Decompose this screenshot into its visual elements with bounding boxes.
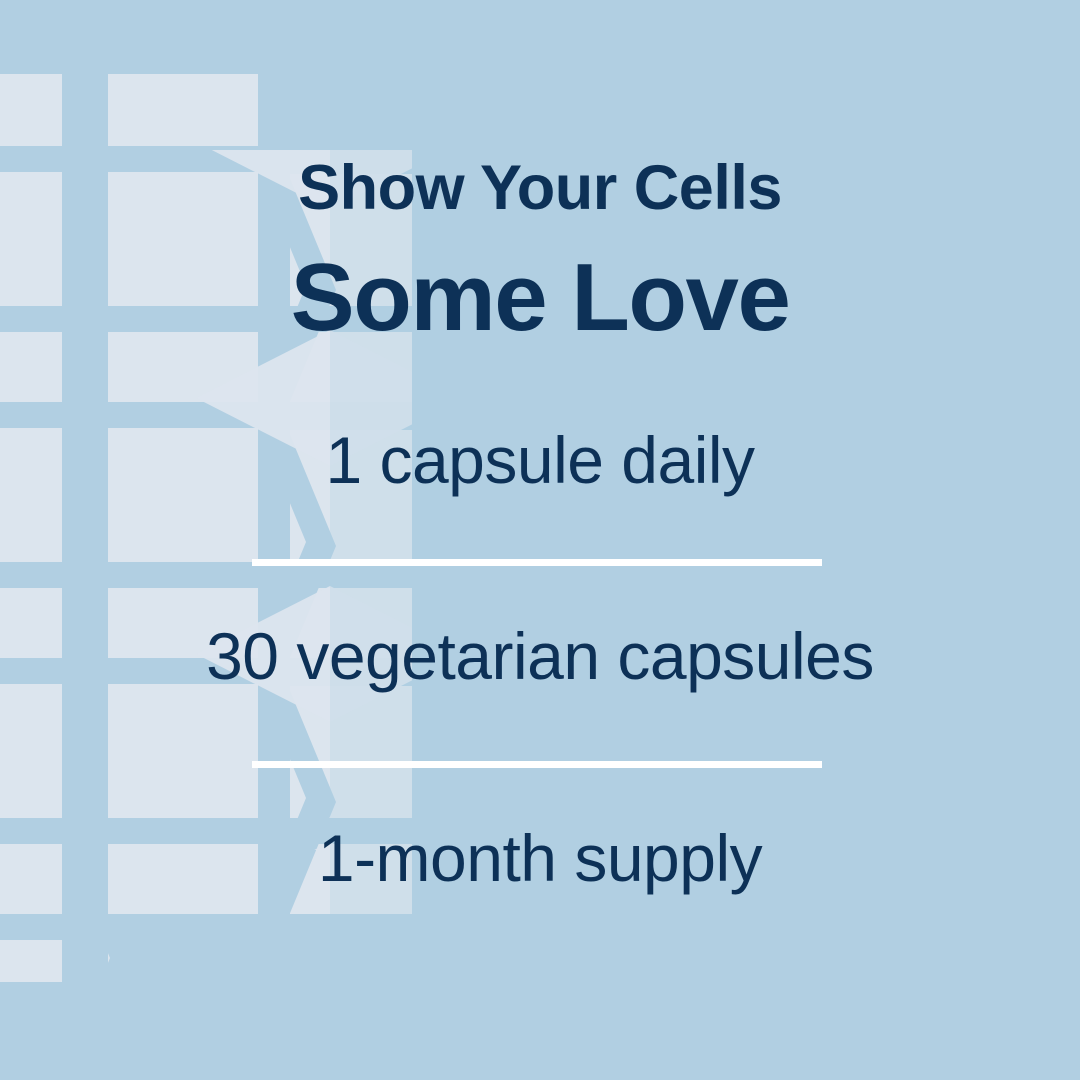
product-info-card: Show Your Cells Some Love 1 capsule dail… <box>0 0 1080 1080</box>
divider-2 <box>252 761 822 768</box>
divider-1 <box>252 559 822 566</box>
fact-dosage: 1 capsule daily <box>0 427 1080 493</box>
eyebrow-text: Show Your Cells <box>0 157 1080 220</box>
page-title: Some Love <box>0 250 1080 346</box>
fact-count: 30 vegetarian capsules <box>0 623 1080 689</box>
card-content: Show Your Cells Some Love 1 capsule dail… <box>0 0 1080 1080</box>
fact-supply: 1-month supply <box>0 825 1080 891</box>
